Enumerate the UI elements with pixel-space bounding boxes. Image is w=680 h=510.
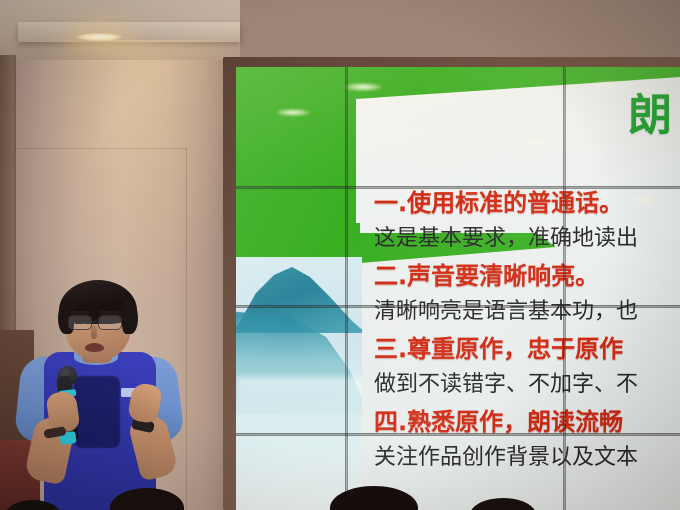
- watercolor-mountain-wave-graphic: [236, 257, 362, 510]
- slide-line-heading-2: 二.声音要清晰响亮。: [374, 264, 680, 288]
- shirt-print: [74, 376, 120, 448]
- video-wall-screen[interactable]: 朗 一.使用标准的普通话。 这是基本要求，准确地读出 二.声音要清晰响亮。 清晰…: [236, 67, 680, 510]
- slide-line-body-4: 关注作品创作背景以及文本: [374, 447, 680, 469]
- glasses-lens-left: [68, 315, 92, 330]
- slide-line-heading-4: 四.熟悉原作，朗读流畅: [374, 410, 680, 434]
- slide-title: 朗: [628, 94, 674, 138]
- wall-light-glow: [40, 40, 240, 300]
- panel-seam-vertical: [563, 67, 566, 510]
- presenter: [8, 280, 198, 510]
- slide-line-body-1: 这是基本要求，准确地读出: [374, 228, 680, 250]
- nose: [91, 326, 97, 339]
- presentation-photo-scene: 朗 一.使用标准的普通话。 这是基本要求，准确地读出 二.声音要清晰响亮。 清晰…: [0, 0, 680, 510]
- light-reflection: [276, 109, 310, 116]
- panel-seam-horizontal: [236, 305, 680, 308]
- mouth: [85, 343, 104, 352]
- slide-line-heading-3: 三.尊重原作，忠于原作: [374, 337, 680, 361]
- hair-side-right: [122, 300, 138, 334]
- eyebrow-left: [70, 311, 90, 314]
- slide-text-block: 一.使用标准的普通话。 这是基本要求，准确地读出 二.声音要清晰响亮。 清晰响亮…: [374, 191, 680, 469]
- light-reflection: [592, 81, 622, 88]
- panel-seam-horizontal: [236, 433, 680, 436]
- light-reflection: [344, 83, 382, 91]
- eyebrow-right: [100, 311, 120, 314]
- light-reflection: [628, 195, 658, 204]
- light-reflection: [516, 139, 552, 146]
- panel-seam-horizontal: [236, 186, 680, 189]
- slide-line-body-3: 做到不读错字、不加字、不: [374, 374, 680, 396]
- panel-seam-vertical: [345, 67, 348, 510]
- ceiling-soffit: [18, 22, 240, 42]
- wall-panel-line: [14, 148, 187, 149]
- glasses-bridge: [92, 321, 99, 323]
- glasses-lens-right: [98, 315, 122, 330]
